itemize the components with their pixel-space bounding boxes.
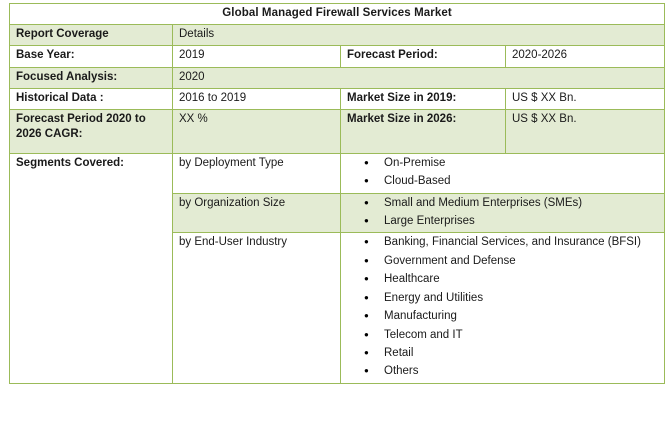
- list-item: Banking, Financial Services, and Insuran…: [364, 235, 658, 250]
- row-label-base-year: Base Year:: [10, 46, 173, 67]
- row-value-forecast-cagr: XX %: [173, 109, 341, 153]
- header-label-report-coverage: Report Coverage: [10, 25, 173, 46]
- bullet-list-deployment-type: On-Premise Cloud-Based: [347, 156, 658, 190]
- list-item: Retail: [364, 346, 658, 361]
- segment-items-deployment-type: On-Premise Cloud-Based: [341, 153, 665, 193]
- row-value-forecast-period: 2020-2026: [506, 46, 665, 67]
- row-label-forecast-period: Forecast Period:: [341, 46, 506, 67]
- row-value-market-size-2019: US $ XX Bn.: [506, 88, 665, 109]
- list-item: Government and Defense: [364, 254, 658, 269]
- header-value-details: Details: [173, 25, 665, 46]
- row-label-market-size-2019: Market Size in 2019:: [341, 88, 506, 109]
- list-item: Small and Medium Enterprises (SMEs): [364, 196, 658, 211]
- table-header-row: Report Coverage Details: [10, 25, 665, 46]
- list-item: Healthcare: [364, 272, 658, 287]
- row-label-market-size-2026: Market Size in 2026:: [341, 109, 506, 153]
- bullet-list-organization-size: Small and Medium Enterprises (SMEs) Larg…: [347, 196, 658, 230]
- table-row-cagr: Forecast Period 2020 to 2026 CAGR: XX % …: [10, 109, 665, 153]
- list-item: On-Premise: [364, 156, 658, 171]
- segment-items-organization-size: Small and Medium Enterprises (SMEs) Larg…: [341, 193, 665, 233]
- table-row-base-year: Base Year: 2019 Forecast Period: 2020-20…: [10, 46, 665, 67]
- table-row-historical-data: Historical Data : 2016 to 2019 Market Si…: [10, 88, 665, 109]
- list-item: Large Enterprises: [364, 214, 658, 229]
- list-item: Energy and Utilities: [364, 291, 658, 306]
- row-label-historical-data: Historical Data :: [10, 88, 173, 109]
- row-value-market-size-2026: US $ XX Bn.: [506, 109, 665, 153]
- report-title: Global Managed Firewall Services Market: [10, 4, 665, 25]
- row-label-forecast-cagr: Forecast Period 2020 to 2026 CAGR:: [10, 109, 173, 153]
- segment-category-deployment-type: by Deployment Type: [173, 153, 341, 193]
- list-item: Cloud-Based: [364, 174, 658, 189]
- row-value-focused-analysis: 2020: [173, 67, 665, 88]
- row-label-segments-covered: Segments Covered:: [10, 153, 173, 383]
- row-value-historical-data: 2016 to 2019: [173, 88, 341, 109]
- row-label-focused-analysis: Focused Analysis:: [10, 67, 173, 88]
- segment-category-end-user-industry: by End-User Industry: [173, 233, 341, 383]
- table-title-row: Global Managed Firewall Services Market: [10, 4, 665, 25]
- segment-items-end-user-industry: Banking, Financial Services, and Insuran…: [341, 233, 665, 383]
- list-item: Telecom and IT: [364, 328, 658, 343]
- row-value-base-year: 2019: [173, 46, 341, 67]
- list-item: Others: [364, 364, 658, 379]
- report-table-page: Global Managed Firewall Services Market …: [0, 0, 672, 445]
- list-item: Manufacturing: [364, 309, 658, 324]
- segment-category-organization-size: by Organization Size: [173, 193, 341, 233]
- table-row-segment-deployment-type: Segments Covered: by Deployment Type On-…: [10, 153, 665, 193]
- table-row-focused-analysis: Focused Analysis: 2020: [10, 67, 665, 88]
- bullet-list-end-user-industry: Banking, Financial Services, and Insuran…: [347, 235, 658, 379]
- market-report-table: Global Managed Firewall Services Market …: [9, 3, 665, 384]
